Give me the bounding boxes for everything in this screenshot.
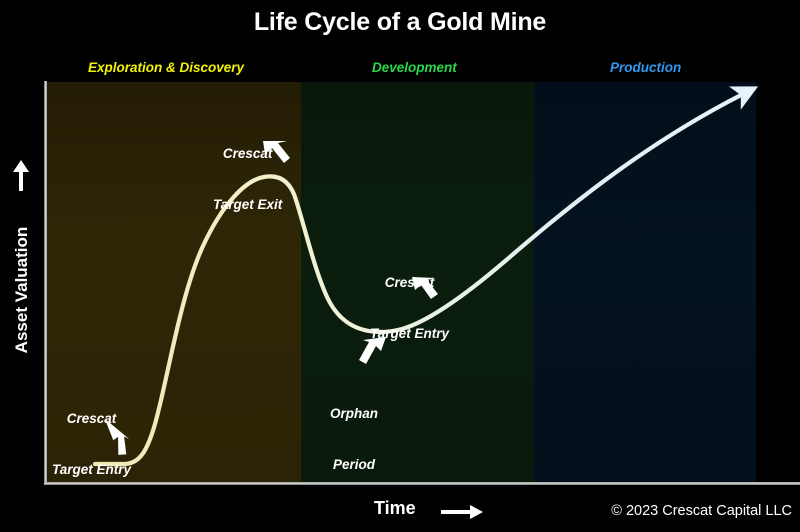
annotation-line-1: Orphan [330,405,378,422]
y-axis-line [44,81,47,485]
annotation-crescat-target-exit: Crescat Target Exit [213,110,282,248]
right-arrow-icon [440,503,484,521]
chart-canvas: Life Cycle of a Gold Mine Exploration & … [0,0,800,532]
annotation-line-2: Target Exit [213,196,282,213]
annotation-line-2: Target Entry [370,325,449,342]
up-arrow-icon [6,158,36,192]
x-axis-title: Time [374,498,416,519]
annotation-line-1: Crescat [370,274,449,291]
annotation-line-1: Crescat [52,410,131,427]
phase-label-development: Development [372,60,457,75]
phase-panel-production [534,82,756,482]
annotation-line-1: Crescat [213,145,282,162]
x-axis-line [44,482,800,485]
y-axis-title: Asset Valuation [12,190,32,390]
copyright-notice: © 2023 Crescat Capital LLC [611,503,792,519]
annotation-crescat-target-entry-mid: Crescat Target Entry [370,239,449,377]
phase-label-exploration: Exploration & Discovery [88,60,244,75]
annotation-orphan-period: Orphan Period [330,370,378,508]
page-title: Life Cycle of a Gold Mine [0,8,800,37]
annotation-line-2: Period [330,456,378,473]
annotation-crescat-target-entry-left: Crescat Target Entry [52,375,131,513]
phase-label-production: Production [610,60,681,75]
annotation-line-2: Target Entry [52,461,131,478]
